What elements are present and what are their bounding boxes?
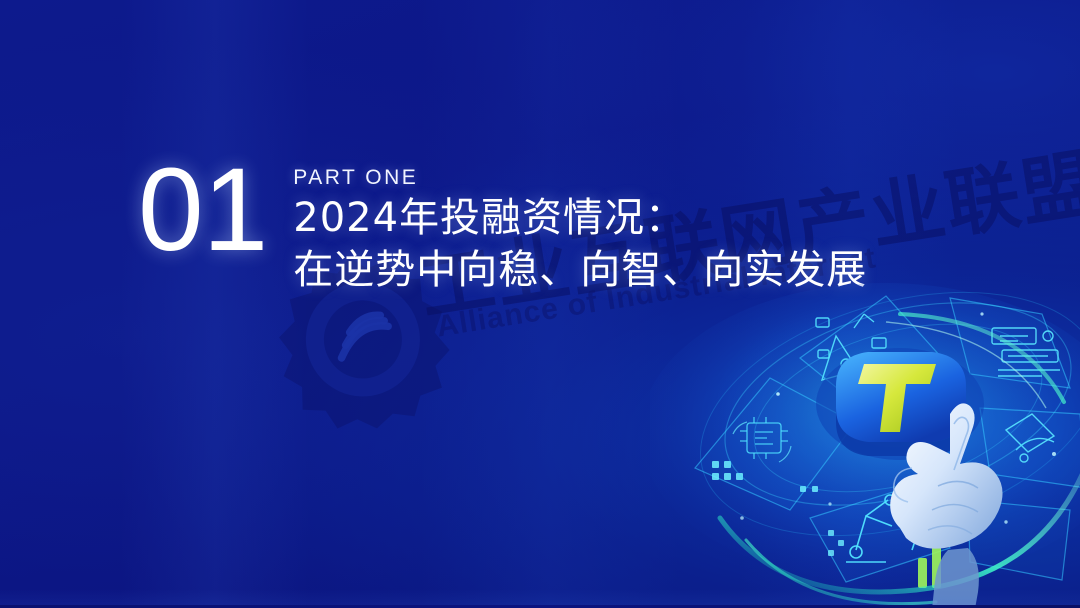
slide-root: 工业互联网产业联盟 Alliance of Industrial Interne… — [0, 0, 1080, 608]
section-eyebrow: PART ONE — [293, 166, 867, 190]
center-badge — [836, 352, 966, 456]
light-band — [420, 0, 680, 608]
industrial-internet-hud-illustration — [650, 218, 1080, 608]
bottom-sheen — [0, 589, 1080, 605]
light-band — [120, 0, 310, 608]
section-numeral: 01 — [138, 160, 267, 261]
